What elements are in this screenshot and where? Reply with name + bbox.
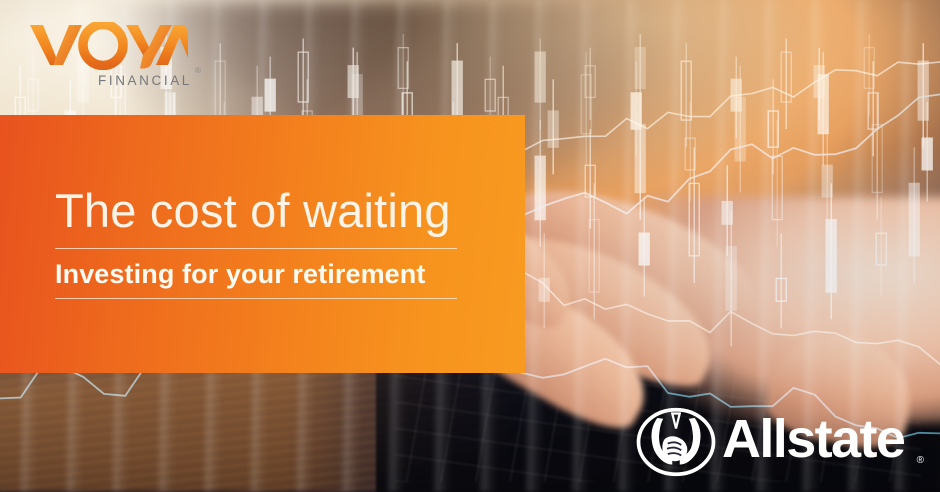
promo-panel: The cost of waiting Investing for your r… <box>0 115 525 373</box>
page-title: The cost of waiting <box>55 187 451 234</box>
divider-top <box>55 248 457 249</box>
voya-wordmark-icon <box>28 22 188 70</box>
voya-registered-mark: ® <box>195 67 201 75</box>
voya-logo[interactable]: ® FINANCIAL <box>28 22 208 94</box>
page-subtitle: Investing for your retirement <box>55 261 425 288</box>
allstate-registered-mark: ® <box>917 456 924 466</box>
banner-canvas: ® FINANCIAL The cost of waiting Investin… <box>0 0 940 492</box>
divider-bottom <box>55 298 457 299</box>
promo-content: The cost of waiting Investing for your r… <box>55 115 457 373</box>
allstate-wordmark: Allstate <box>722 412 904 466</box>
voya-tagline: FINANCIAL <box>98 73 192 88</box>
good-hands-icon <box>634 406 718 478</box>
allstate-logo[interactable]: Allstate ® <box>626 400 926 482</box>
